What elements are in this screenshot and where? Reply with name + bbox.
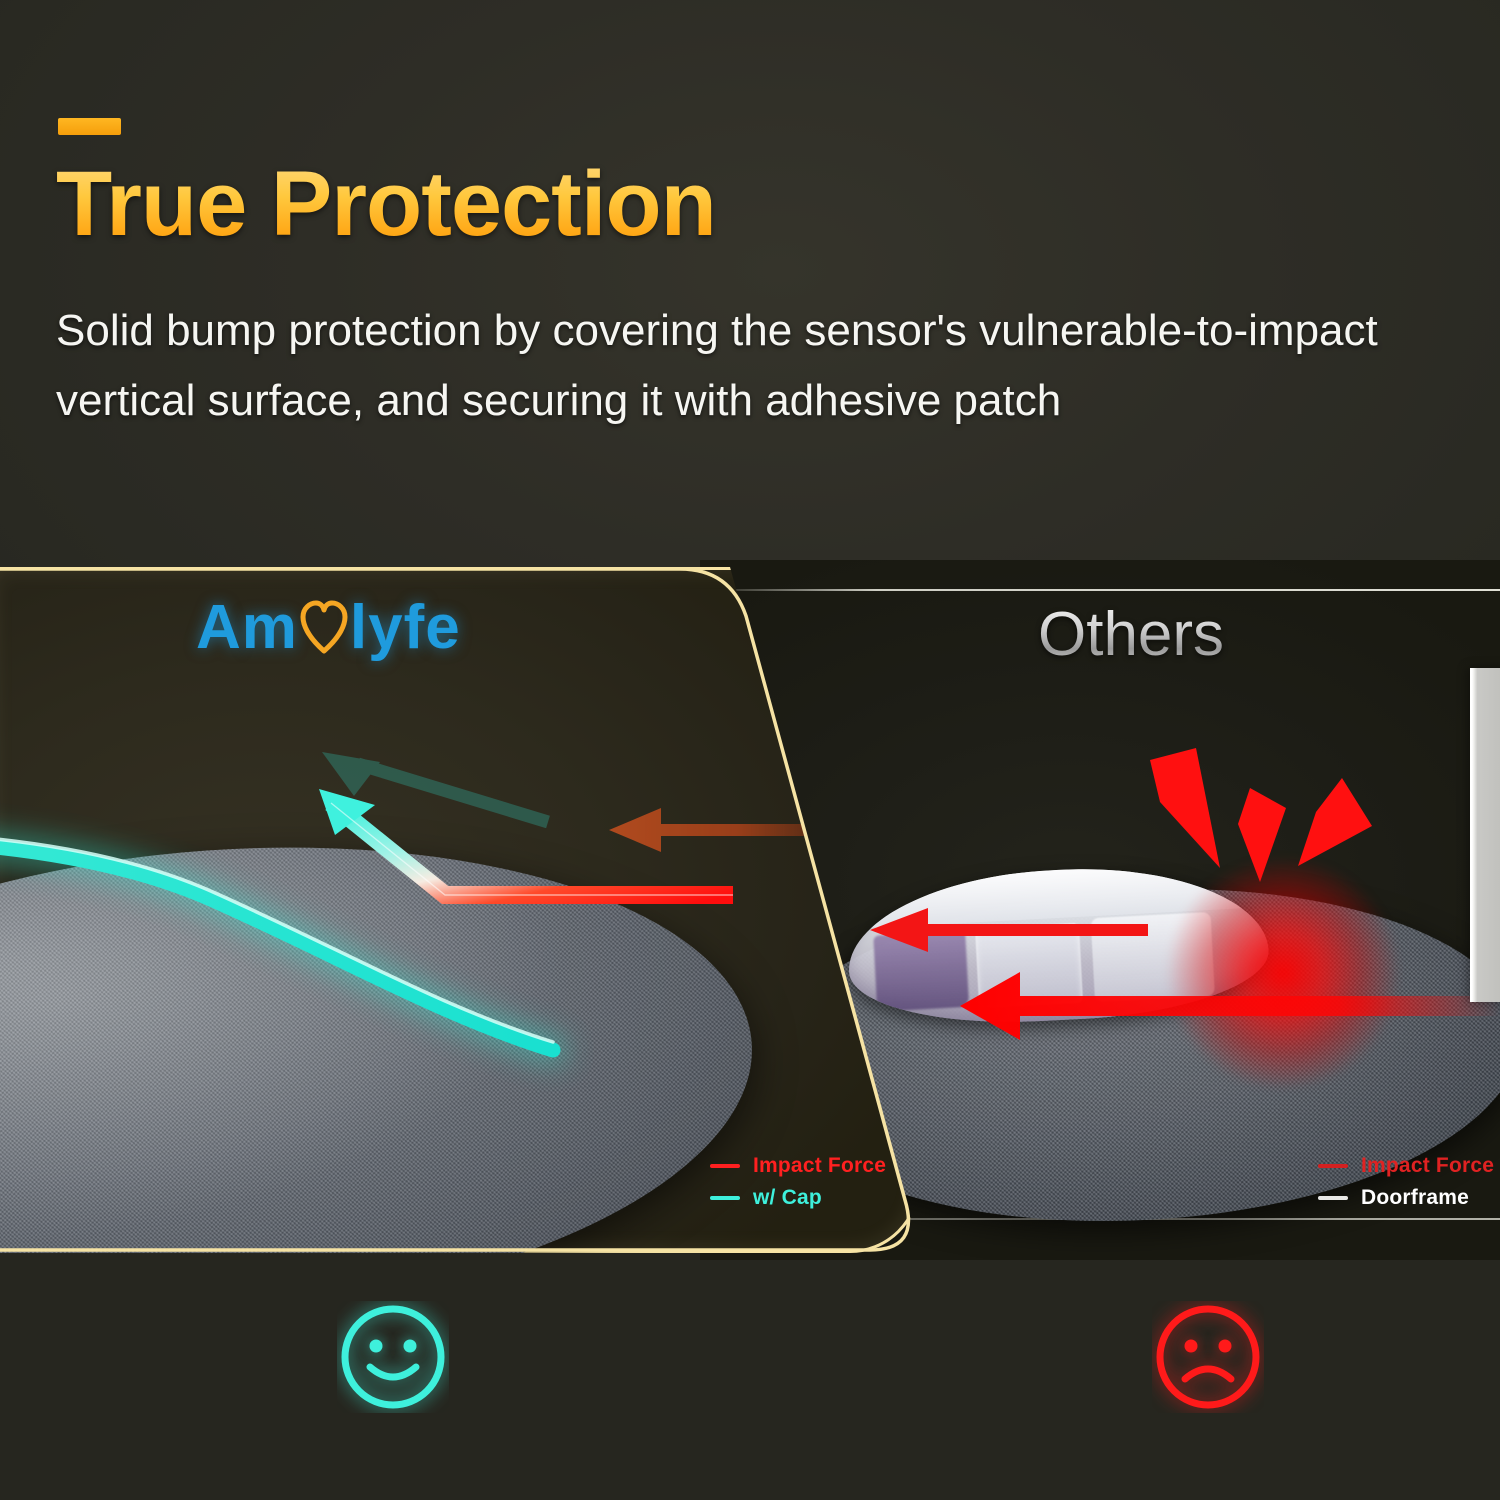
legend-swatch-impact-force [1318,1164,1348,1168]
header-section: True Protection Solid bump protection by… [0,0,1500,560]
smiley-happy-icon [337,1301,449,1413]
brand-logo-amolyfe: Am lyfe [196,592,461,664]
legend-item: w/ Cap [710,1182,886,1214]
accent-bar [58,118,121,135]
legend-item: Doorframe [1318,1182,1494,1214]
legend-left: Impact Force w/ Cap [710,1150,886,1214]
legend-swatch-with-cap [710,1196,740,1200]
others-title: Others [1038,604,1224,666]
legend-label-impact-force: Impact Force [1361,1154,1494,1178]
smiley-sad-icon [1152,1301,1264,1413]
page-subtitle: Solid bump protection by covering the se… [56,296,1456,437]
product-feature-image: True Protection Solid bump protection by… [0,0,1500,1500]
legend-right: Impact Force Doorframe [1318,1150,1494,1214]
legend-label-with-cap: w/ Cap [753,1186,822,1210]
legend-item: Impact Force [1318,1150,1494,1182]
heart-icon [300,600,348,656]
legend-swatch-doorframe [1318,1196,1348,1200]
brand-text-after: lyfe [350,597,461,659]
legend-label-impact-force: Impact Force [753,1154,886,1178]
legend-item: Impact Force [710,1150,886,1182]
brand-text-before: Am [196,597,298,659]
doorframe-bar [1470,668,1500,1002]
legend-swatch-impact-force [710,1164,740,1168]
page-title: True Protection [56,158,716,250]
impact-transfer-arrow [848,900,1148,960]
legend-label-doorframe: Doorframe [1361,1186,1469,1210]
impact-force-arrow-right-panel [890,950,1500,1060]
deflected-force-ghost-arrow [318,748,558,828]
